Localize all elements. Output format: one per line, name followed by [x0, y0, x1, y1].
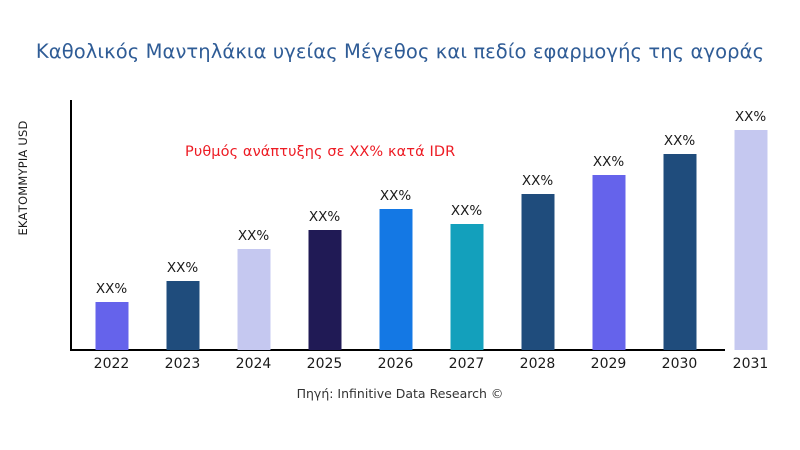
bar-group: XX%2026: [360, 100, 431, 350]
bar-group: XX%2022: [76, 100, 147, 350]
bar[interactable]: [379, 209, 412, 350]
bar-group: XX%2025: [289, 100, 360, 350]
bar[interactable]: [237, 249, 270, 350]
x-axis-tick-label: 2030: [662, 356, 698, 372]
bar[interactable]: [592, 175, 625, 350]
bar[interactable]: [663, 154, 696, 350]
bar-value-label: XX%: [735, 109, 766, 125]
bar[interactable]: [308, 230, 341, 350]
bar[interactable]: [521, 194, 554, 350]
bar-group: XX%2027: [431, 100, 502, 350]
bar-value-label: XX%: [593, 154, 624, 170]
bar-value-label: XX%: [96, 281, 127, 297]
y-axis-title: ΕΚΑΤΟΜΜΥΡΙΑ USD: [16, 78, 30, 278]
bar-chart: Καθολικός Μαντηλάκια υγείας Μέγεθος και …: [0, 0, 800, 450]
x-axis-tick-label: 2023: [165, 356, 201, 372]
bar-value-label: XX%: [451, 203, 482, 219]
bar-group: XX%2030: [644, 100, 715, 350]
bar-value-label: XX%: [380, 188, 411, 204]
x-axis-tick-label: 2025: [307, 356, 343, 372]
bar-value-label: XX%: [238, 228, 269, 244]
bar[interactable]: [734, 130, 767, 350]
bar-group: XX%2029: [573, 100, 644, 350]
x-axis-tick-label: 2027: [449, 356, 485, 372]
bar-group: XX%2023: [147, 100, 218, 350]
plot-area: Ρυθμός ανάπτυξης σε XX% κατά IDR XX%2022…: [70, 100, 780, 350]
bar-value-label: XX%: [309, 209, 340, 225]
x-axis-tick-label: 2026: [378, 356, 414, 372]
bar-value-label: XX%: [167, 260, 198, 276]
bar[interactable]: [166, 281, 199, 350]
bar-group: XX%2028: [502, 100, 573, 350]
bar-value-label: XX%: [522, 173, 553, 189]
x-axis-tick-label: 2024: [236, 356, 272, 372]
x-axis-tick-label: 2028: [520, 356, 556, 372]
bar-group: XX%2024: [218, 100, 289, 350]
bar[interactable]: [95, 302, 128, 350]
bar[interactable]: [450, 224, 483, 350]
x-axis-tick-label: 2022: [94, 356, 130, 372]
source-note: Πηγή: Infinitive Data Research ©: [0, 386, 800, 401]
chart-title: Καθολικός Μαντηλάκια υγείας Μέγεθος και …: [0, 40, 800, 63]
x-axis-tick-label: 2029: [591, 356, 627, 372]
bar-value-label: XX%: [664, 133, 695, 149]
bar-group: XX%2031: [715, 100, 786, 350]
y-axis-line: [70, 100, 72, 350]
x-axis-tick-label: 2031: [733, 356, 769, 372]
